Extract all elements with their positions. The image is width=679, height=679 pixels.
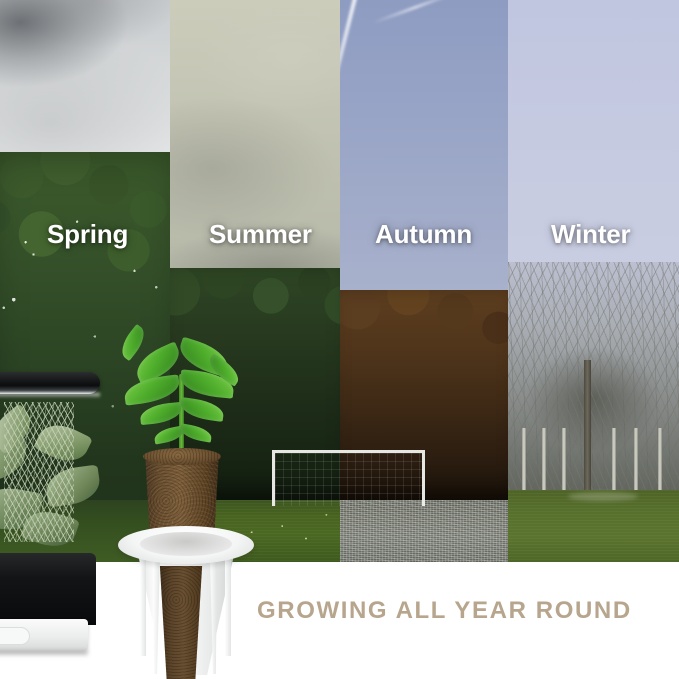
grow-light-arm xyxy=(0,372,100,394)
dill-herb-cluster xyxy=(4,402,74,542)
seedling-leaf xyxy=(116,324,150,361)
device-body xyxy=(0,553,96,625)
winter-grass-patch xyxy=(568,492,638,501)
winter-birch-trunk xyxy=(542,428,546,490)
device-control-button[interactable] xyxy=(0,627,30,645)
seedling-leaf xyxy=(179,423,213,442)
seedling-leaf xyxy=(179,397,225,422)
hydroponic-herb-garden xyxy=(0,370,106,679)
winter-birch-trunk xyxy=(634,428,638,490)
seedling-leaf xyxy=(139,402,183,425)
goal-net xyxy=(275,453,422,506)
winter-birch-trunk xyxy=(522,428,526,490)
seedling-leaf xyxy=(123,374,182,406)
device-base-panel[interactable] xyxy=(0,619,88,651)
net-pot-rib xyxy=(140,556,146,656)
herb-plants xyxy=(0,392,102,558)
season-label-winter: Winter xyxy=(551,219,630,250)
autumn-frosted-grass xyxy=(340,500,508,562)
net-pot-rim-inner xyxy=(140,532,232,556)
winter-grass xyxy=(508,490,679,562)
season-label-summer: Summer xyxy=(209,219,312,250)
winter-birch-trunk xyxy=(612,428,616,490)
pepper-seedling-in-net-pot xyxy=(110,330,270,679)
season-panel-winter xyxy=(508,0,679,562)
tagline: GROWING ALL YEAR ROUND xyxy=(257,597,632,625)
coir-plug-top xyxy=(143,448,221,465)
winter-bare-branches xyxy=(508,262,679,490)
net-pot-rib xyxy=(225,556,231,656)
season-label-spring: Spring xyxy=(47,219,128,250)
device-shadow xyxy=(0,651,88,657)
football-goal-post xyxy=(272,450,425,506)
winter-birch-trunk xyxy=(658,428,662,490)
winter-tree-trunk xyxy=(584,360,591,490)
winter-birch-trunk xyxy=(562,428,566,490)
season-label-autumn: Autumn xyxy=(375,219,472,250)
seasons-collage: Spring Summer Autumn Winter GROWING ALL … xyxy=(0,0,679,679)
